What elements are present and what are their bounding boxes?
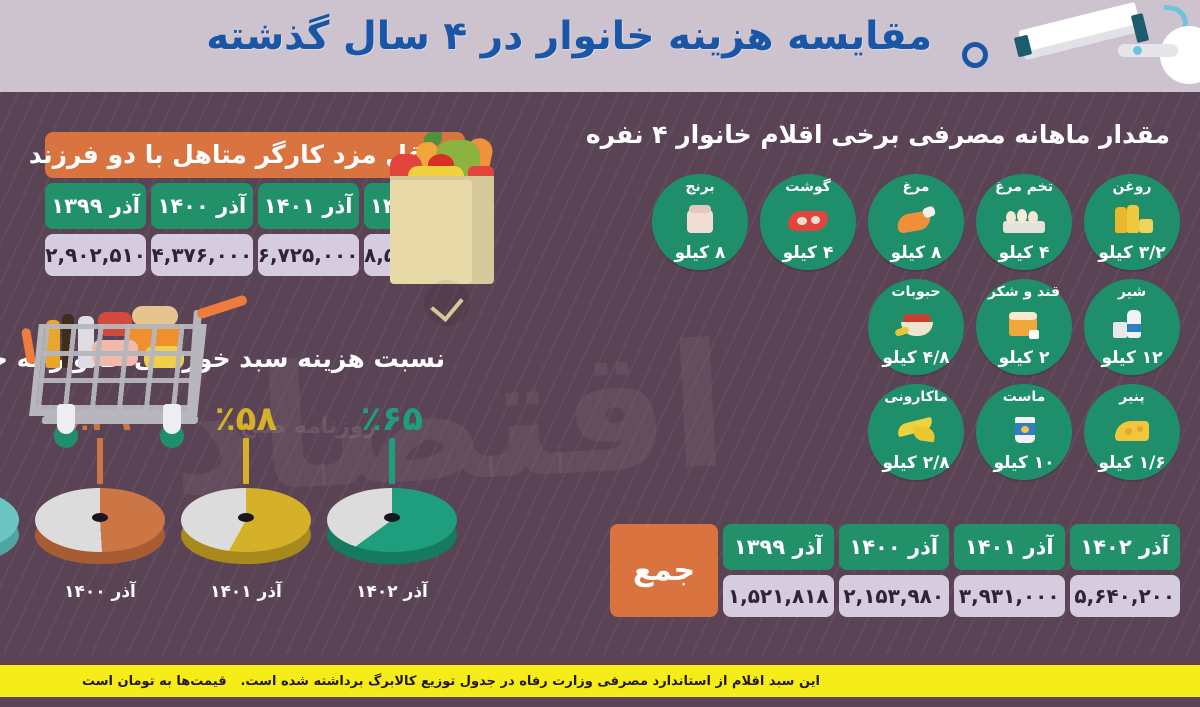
- item-label: ماکارونی: [884, 390, 948, 404]
- totals-year-cell: آذر ۱۴۰۱: [954, 524, 1065, 570]
- pie-year-text: آذر ۱۴۰۲: [356, 582, 428, 602]
- wage-year-cell: آذر ۱۳۹۹: [45, 183, 146, 229]
- title-band: مقایسه هزینه خانوار در ۴ سال گذشته: [0, 0, 1200, 92]
- pie-year-label: آذر ۱۳۹۹: [0, 582, 27, 603]
- item-row: روغن ۳/۲ کیلو تخم مرغ: [600, 174, 1180, 270]
- bottle-label: [1127, 324, 1141, 332]
- footer-unit-note: قیمت‌ها به تومان است: [82, 674, 227, 689]
- item-label: حبوبات: [891, 285, 940, 299]
- item-label: تخم مرغ: [995, 180, 1053, 194]
- red-meat-icon: [787, 205, 829, 235]
- item-label: برنج: [685, 180, 714, 194]
- egg-shape: [1028, 211, 1038, 224]
- cheese-hole: [1137, 426, 1143, 432]
- check-icon: [424, 280, 470, 326]
- sugar-icon: [1003, 310, 1045, 340]
- item-label: قند و شکر: [988, 285, 1060, 299]
- egg-shape: [1006, 211, 1016, 224]
- bone-shape: [922, 205, 937, 219]
- pasta-shape: [912, 425, 936, 442]
- item-row: شیر ۱۲ کیلو قند و شکر ۲ کیلو: [600, 279, 1180, 375]
- cart-wheel: [54, 424, 78, 448]
- wage-year-cell: آذر ۱۴۰۰: [151, 183, 252, 229]
- pie-graphic: [322, 480, 462, 576]
- item-quantity: ۴ کیلو: [999, 245, 1050, 262]
- cart-front-bar: [21, 327, 36, 364]
- consumption-section-title: مقدار ماهانه مصرفی برخی اقلام خانوار ۴ ن…: [610, 120, 1170, 149]
- footer-strip: این سبد اقلام از استاندارد مصرفی وزارت ر…: [0, 655, 1200, 707]
- oil-bottle-icon: [1111, 205, 1153, 235]
- item-meat: گوشت ۴ کیلو: [760, 174, 856, 270]
- item-eggs: تخم مرغ ۴ کیلو: [976, 174, 1072, 270]
- security-camera-icon: [980, 0, 1200, 92]
- item-quantity: ۲ کیلو: [999, 350, 1050, 367]
- totals-year-cell: آذر ۱۴۰۲: [1070, 524, 1181, 570]
- chicken-icon: [895, 205, 937, 235]
- item-chicken: مرغ ۸ کیلو: [868, 174, 964, 270]
- milk-bottle-icon: [1111, 310, 1153, 340]
- totals-sum-label: جمع: [610, 524, 718, 617]
- item-rice: برنج ۸ کیلو: [652, 174, 748, 270]
- item-quantity: ۸ کیلو: [675, 245, 726, 262]
- pasta-icon: [895, 415, 937, 445]
- bag-body: [390, 180, 494, 284]
- wage-value-cell: ۲,۹۰۲,۵۱۰: [45, 234, 146, 276]
- yogurt-cup-icon: [1003, 415, 1045, 445]
- sack-top: [689, 205, 711, 213]
- totals-column: آذر ۱۴۰۲ ۵,۶۴۰,۲۰۰: [1070, 524, 1181, 617]
- wage-value-cell: ۶,۷۲۵,۰۰۰: [258, 234, 359, 276]
- totals-value-cell: ۳,۹۳۱,۰۰۰: [954, 575, 1065, 617]
- pie-graphic: [30, 480, 170, 576]
- pie-chart-1402: ٪۶۵ آذر ۱۴۰۲: [319, 402, 465, 603]
- item-quantity: ۱۰ کیلو: [993, 455, 1054, 472]
- pie-year-label: آذر ۱۴۰۲: [319, 582, 465, 603]
- sugar-cube-shape: [1029, 330, 1039, 339]
- totals-year-cell: آذر ۱۳۹۹: [723, 524, 834, 570]
- totals-value-cell: ۲,۱۵۳,۹۸۰: [839, 575, 950, 617]
- camera-lens: [1131, 13, 1149, 43]
- pie-stem: [389, 438, 395, 484]
- bottle-shape: [1115, 207, 1127, 233]
- egg-carton-icon: [1003, 205, 1045, 235]
- totals-column: آذر ۱۴۰۱ ۳,۹۳۱,۰۰۰: [954, 524, 1065, 617]
- rice-sack-icon: [679, 205, 721, 235]
- totals-value-cell: ۱,۵۲۱,۸۱۸: [723, 575, 834, 617]
- cheese-icon: [1111, 415, 1153, 445]
- pie-year-text: آذر ۱۴۰۰: [64, 582, 136, 602]
- pie-graphic: [176, 480, 316, 576]
- cheese-hole: [1125, 428, 1132, 435]
- item-yogurt: ماست ۱۰ کیلو: [976, 384, 1072, 480]
- grocery-bag-icon: [380, 114, 510, 294]
- eggs-shape: [132, 306, 178, 326]
- shopping-cart-icon: [10, 272, 260, 472]
- steak-shape: [788, 211, 828, 231]
- item-quantity: ۱/۶ کیلو: [1098, 455, 1165, 472]
- pie-year-label: آذر ۱۴۰۱: [173, 582, 319, 603]
- pie-hub: [384, 513, 400, 522]
- milk-carton-shape: [1113, 322, 1127, 338]
- footer-note: این سبد اقلام از استاندارد مصرفی وزارت ر…: [240, 674, 820, 689]
- item-label: پنیر: [1119, 390, 1144, 404]
- wheat-shape: [894, 326, 909, 337]
- item-oil: روغن ۳/۲ کیلو: [1084, 174, 1180, 270]
- cheese-wedge-shape: [1115, 421, 1149, 441]
- item-pasta: ماکارونی ۲/۸ کیلو: [868, 384, 964, 480]
- egg-shape: [1017, 209, 1027, 223]
- cup-logo: [1021, 426, 1029, 433]
- totals-column: آذر ۱۳۹۹ ۱,۵۲۱,۸۱۸: [723, 524, 834, 617]
- item-quantity: ۸ کیلو: [891, 245, 942, 262]
- pie-percent-label: ٪۶۵: [319, 402, 465, 436]
- oil-can-shape: [1139, 219, 1153, 233]
- pie-year-label: آذر ۱۴۰۰: [27, 582, 173, 603]
- bottle-shape: [1127, 205, 1139, 233]
- totals-column: آذر ۱۴۰۰ ۲,۱۵۳,۹۸۰: [839, 524, 950, 617]
- camera-arm: [1118, 44, 1178, 57]
- item-label: مرغ: [903, 180, 930, 194]
- pie-hub: [92, 513, 108, 522]
- footer-banner: این سبد اقلام از استاندارد مصرفی وزارت ر…: [0, 665, 1200, 697]
- totals-value-cell: ۵,۶۴۰,۲۰۰: [1070, 575, 1181, 617]
- pie-graphic: [0, 480, 24, 576]
- camera-indicator-dot: [1133, 46, 1142, 55]
- item-milk: شیر ۱۲ کیلو: [1084, 279, 1180, 375]
- item-label: ماست: [1003, 390, 1046, 404]
- cart-wheel: [160, 424, 184, 448]
- item-quantity: ۴/۸ کیلو: [882, 350, 949, 367]
- item-quantity: ۱۲ کیلو: [1101, 350, 1162, 367]
- item-quantity: ۴ کیلو: [783, 245, 834, 262]
- item-label: روغن: [1113, 180, 1152, 194]
- item-label: گوشت: [785, 180, 831, 194]
- totals-row: آذر ۱۴۰۲ ۵,۶۴۰,۲۰۰ آذر ۱۴۰۱ ۳,۹۳۱,۰۰۰ آذ…: [610, 524, 1180, 617]
- item-quantity: ۳/۲ کیلو: [1098, 245, 1165, 262]
- pie-hub: [238, 513, 254, 522]
- item-cheese: پنیر ۱/۶ کیلو: [1084, 384, 1180, 480]
- item-label: شیر: [1118, 285, 1146, 299]
- wage-year-cell: آذر ۱۴۰۱: [258, 183, 359, 229]
- infographic-root: مقایسه هزینه خانوار در ۴ سال گذشته اقتصا…: [0, 0, 1200, 707]
- consumption-item-grid: روغن ۳/۲ کیلو تخم مرغ: [600, 174, 1180, 489]
- totals-year-cell: آذر ۱۴۰۰: [839, 524, 950, 570]
- item-legumes: حبوبات ۴/۸ کیلو: [868, 279, 964, 375]
- main-panel: اقتصاد روزنامه صبح حداقل مزد کارگر متاهل…: [0, 92, 1200, 655]
- fat-shape: [797, 217, 807, 225]
- legumes-bowl-icon: [895, 310, 937, 340]
- fat-shape: [811, 216, 820, 224]
- cart-basket: [29, 324, 207, 416]
- wage-value-cell: ۴,۳۷۶,۰۰۰: [151, 234, 252, 276]
- blue-circle-decoration: [962, 42, 988, 68]
- totals-table: آذر ۱۴۰۲ ۵,۶۴۰,۲۰۰ آذر ۱۴۰۱ ۳,۹۳۱,۰۰۰ آذ…: [610, 524, 1180, 617]
- pie-year-text: آذر ۱۴۰۱: [210, 582, 282, 602]
- item-row: پنیر ۱/۶ کیلو ماست ۱۰ کیلو: [600, 384, 1180, 480]
- item-quantity: ۲/۸ کیلو: [882, 455, 949, 472]
- item-sugar: قند و شکر ۲ کیلو: [976, 279, 1072, 375]
- sugar-top-shape: [1009, 312, 1037, 320]
- page-title: مقایسه هزینه خانوار در ۴ سال گذشته: [206, 14, 932, 59]
- cart-handle: [196, 294, 249, 320]
